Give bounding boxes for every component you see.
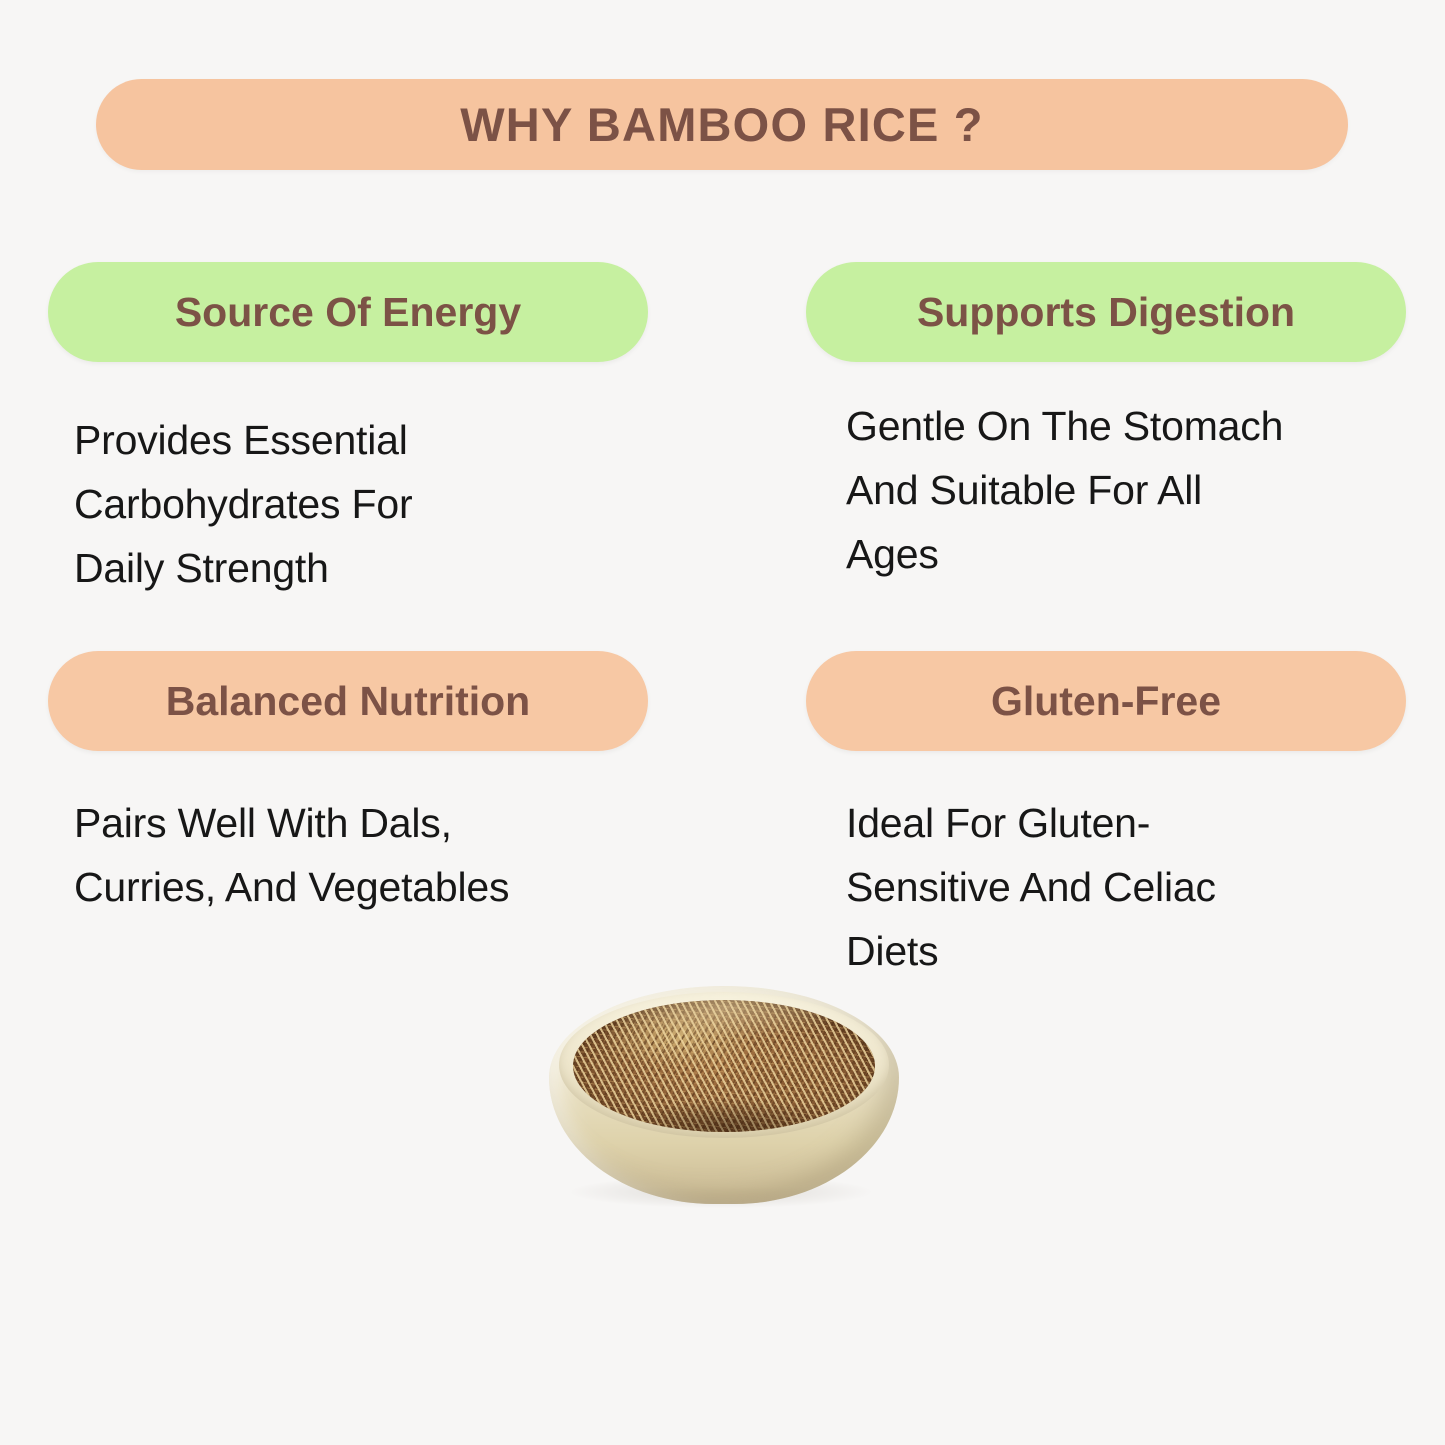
page-title: WHY BAMBOO RICE ? [460,97,983,152]
feature-description-supports-digestion: Gentle On The Stomach And Suitable For A… [846,395,1406,587]
feature-pill-source-of-energy: Source Of Energy [48,262,648,362]
page-title-banner: WHY BAMBOO RICE ? [96,79,1348,170]
feature-label: Balanced Nutrition [166,678,530,725]
feature-pill-supports-digestion: Supports Digestion [806,262,1406,362]
feature-label: Gluten-Free [991,678,1221,725]
rice-grains [573,1000,875,1132]
bamboo-rice-bowl-image [543,980,905,1220]
feature-description-gluten-free: Ideal For Gluten- Sensitive And Celiac D… [846,792,1406,984]
feature-pill-gluten-free: Gluten-Free [806,651,1406,751]
feature-label: Source Of Energy [175,289,521,336]
feature-description-balanced-nutrition: Pairs Well With Dals, Curries, And Veget… [74,792,664,920]
feature-pill-balanced-nutrition: Balanced Nutrition [48,651,648,751]
infographic-canvas: WHY BAMBOO RICE ? Source Of Energy Provi… [0,0,1445,1445]
feature-label: Supports Digestion [917,289,1295,336]
feature-description-source-of-energy: Provides Essential Carbohydrates For Dai… [74,409,634,601]
